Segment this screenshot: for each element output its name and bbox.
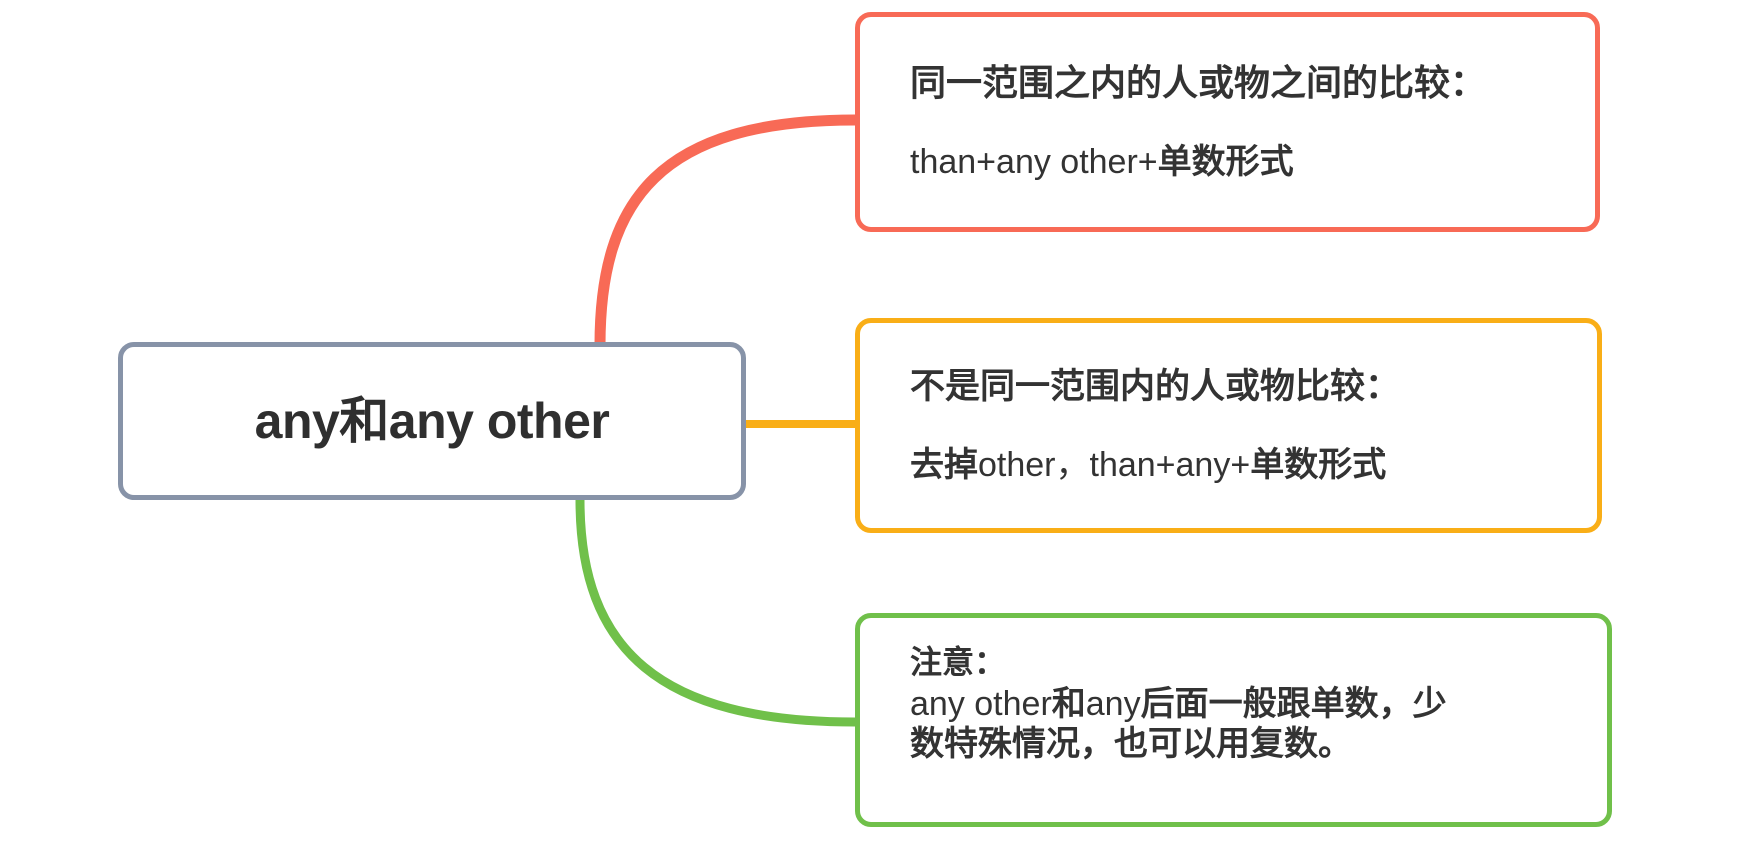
branch-orange-line-2-seg-1: 去掉 <box>910 446 978 484</box>
branch-orange-line-1: 不是同一范围内的人或物比较： <box>910 367 1597 406</box>
branch-green-line-2-seg-2: 和 <box>1052 685 1086 723</box>
branch-red-line-2-seg-1: than+any other+ <box>910 143 1158 181</box>
branch-green-line-1: 注意： <box>910 645 1607 681</box>
branch-green-line-2-seg-4: 后面一般跟单数，少 <box>1141 685 1447 723</box>
branch-green-line-2-seg-3: any <box>1086 685 1141 723</box>
branch-orange-line-2-seg-2: other，than+any+ <box>978 446 1250 484</box>
branch-red-line-2-seg-2: 单数形式 <box>1158 143 1294 181</box>
connector-red <box>600 120 855 345</box>
branch-red-line-2: than+any other+单数形式 <box>910 143 1595 181</box>
branch-green-line-2: any other和any后面一般跟单数，少 <box>910 685 1607 723</box>
branch-node-note[interactable]: 注意： any other和any后面一般跟单数，少 数特殊情况，也可以用复数。 <box>855 613 1612 827</box>
branch-red-line-1: 同一范围之内的人或物之间的比较： <box>910 63 1595 103</box>
branch-green-line-3: 数特殊情况，也可以用复数。 <box>910 725 1607 763</box>
branch-green-line-2-seg-1: any other <box>910 685 1052 723</box>
root-node-label: any和any other <box>255 396 610 446</box>
branch-node-different-scope[interactable]: 不是同一范围内的人或物比较： 去掉other，than+any+单数形式 <box>855 318 1602 533</box>
branch-node-same-scope[interactable]: 同一范围之内的人或物之间的比较： than+any other+单数形式 <box>855 12 1600 232</box>
branch-orange-line-2: 去掉other，than+any+单数形式 <box>910 446 1597 484</box>
root-node[interactable]: any和any other <box>118 342 746 500</box>
branch-orange-line-2-seg-3: 单数形式 <box>1250 446 1386 484</box>
mindmap-canvas: any和any other 同一范围之内的人或物之间的比较： than+any … <box>0 0 1747 845</box>
connector-green <box>580 500 855 722</box>
